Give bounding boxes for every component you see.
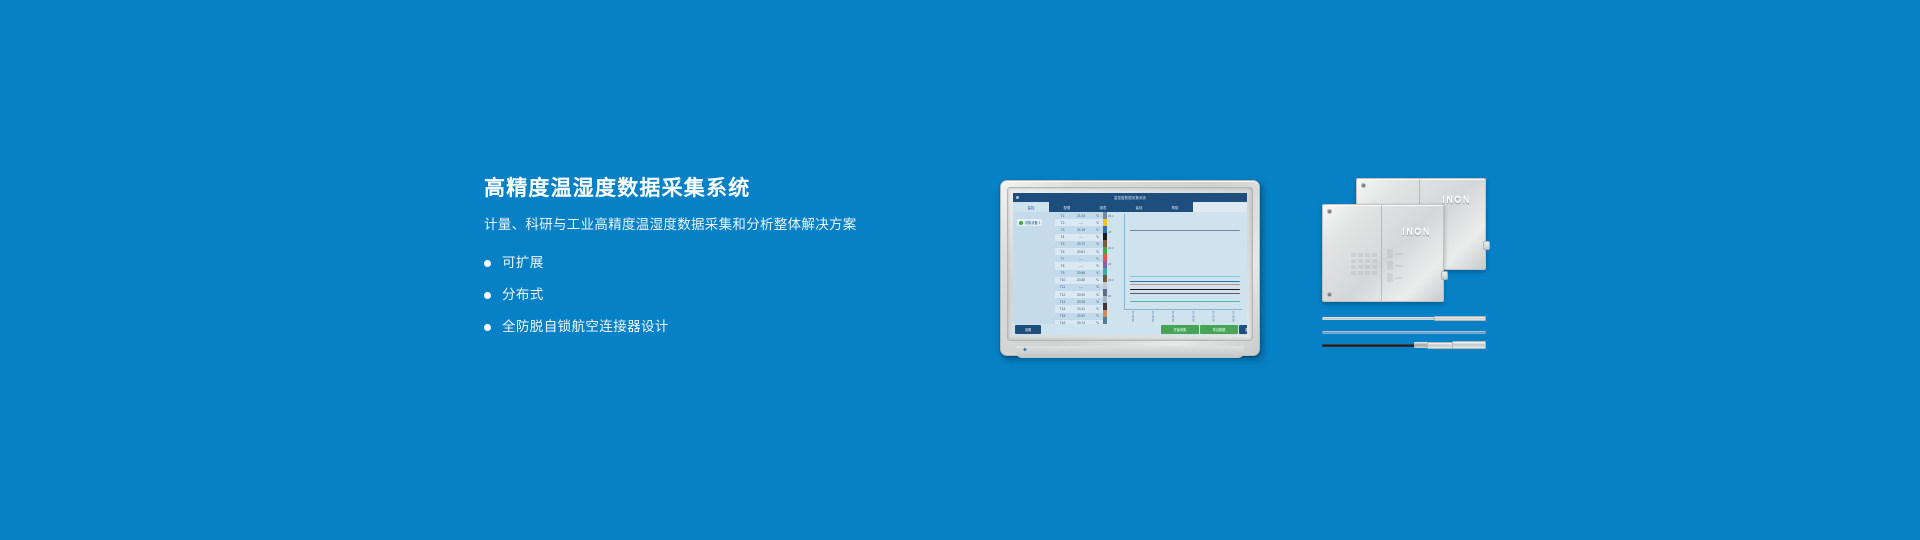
tab-curve[interactable]: 曲线 [1121, 202, 1157, 212]
cell-channel: T12 [1055, 293, 1070, 297]
panel-seam [1381, 205, 1382, 301]
settings-button[interactable]: 设置 [1015, 325, 1041, 334]
chart-series-line [1130, 276, 1240, 277]
sidebar-item-device[interactable]: 采集设备 1 [1017, 219, 1042, 226]
table-row[interactable]: T8----℃ [1055, 262, 1103, 269]
emboss-cell [1358, 271, 1363, 275]
table-row[interactable]: T1020.88℃ [1055, 277, 1103, 284]
cell-unit: ℃ [1092, 300, 1103, 304]
emboss-cell [1358, 265, 1363, 269]
cell-channel: T10 [1055, 278, 1070, 282]
cell-unit: ℃ [1092, 285, 1103, 289]
cell-channel: T7 [1055, 257, 1070, 261]
cell-value: 20.98 [1070, 271, 1092, 275]
app-system-icon [1016, 196, 1019, 199]
cell-channel: T14 [1055, 307, 1070, 311]
vendor-logo-icon: ✦ [1022, 348, 1028, 354]
app-tab-bar: 监控 配置 报表 曲线 帮助 [1013, 202, 1247, 212]
probe-cable [1322, 331, 1486, 334]
legend-swatch [1103, 261, 1107, 268]
cell-channel: T6 [1055, 250, 1070, 254]
legend-swatch [1103, 268, 1107, 275]
chart-plot-area [1124, 214, 1242, 310]
cell-unit: ℃ [1092, 242, 1103, 246]
cell-value: 20.90 [1070, 314, 1092, 318]
bullet-icon [484, 292, 491, 299]
x-tick-label: 10:40:00 [1211, 311, 1215, 322]
bullet-icon [484, 260, 491, 267]
cell-value: ---- [1070, 285, 1092, 289]
legend-swatch [1103, 212, 1107, 219]
app-footer: 设置 开始采集 导出数据 退出 [1013, 324, 1247, 335]
y-tick-label: 23 [1108, 262, 1111, 266]
cell-unit: ℃ [1092, 257, 1103, 261]
device-online-icon [1019, 221, 1023, 225]
cell-value: 24.19 [1070, 228, 1092, 232]
cell-unit: ℃ [1092, 228, 1103, 232]
connector-body [1427, 342, 1453, 349]
emboss-cell [1372, 253, 1377, 257]
table-row[interactable]: T520.72℃ [1055, 241, 1103, 248]
cell-value: ---- [1070, 264, 1092, 268]
table-row[interactable]: T11----℃ [1055, 284, 1103, 291]
legend-swatch [1103, 310, 1107, 317]
embossed-icon-column [1387, 249, 1403, 283]
table-row[interactable]: T7----℃ [1055, 255, 1103, 262]
screw-icon [1327, 209, 1332, 214]
feature-label: 可扩展 [502, 254, 544, 272]
start-capture-button[interactable]: 开始采集 [1161, 325, 1199, 334]
cell-value: ---- [1070, 221, 1092, 225]
emboss-cell [1365, 271, 1370, 275]
panel-pc-monitor: 温湿度数据采集系统 监控 配置 报表 曲线 帮助 采集设备 1 [1000, 180, 1266, 363]
emboss-icon [1387, 249, 1393, 258]
cell-unit: ℃ [1092, 264, 1103, 268]
cell-value: ---- [1070, 235, 1092, 239]
cell-channel: T2 [1055, 221, 1070, 225]
emboss-cell [1372, 271, 1377, 275]
cell-channel: T4 [1055, 235, 1070, 239]
emboss-cell [1365, 265, 1370, 269]
legend-swatch [1103, 275, 1107, 282]
cell-value: ---- [1070, 257, 1092, 261]
tab-help[interactable]: 帮助 [1157, 202, 1193, 212]
x-tick-label: 10:30:00 [1171, 311, 1175, 322]
trend-chart: 25.02424.02323.020 10:20:0010:25:0010:30… [1108, 212, 1246, 324]
acquisition-module-front: INON [1322, 204, 1444, 302]
legend-swatch [1103, 317, 1107, 324]
list-item: 全防脱自锁航空连接器设计 [484, 318, 954, 336]
cell-channel: T9 [1055, 271, 1070, 275]
monitor-chin [1016, 346, 1244, 358]
cell-unit: ℃ [1092, 314, 1103, 318]
x-tick-label: 10:25:00 [1151, 311, 1155, 322]
emboss-rule [1395, 265, 1403, 267]
emboss-cell [1351, 253, 1356, 257]
cell-channel: T8 [1055, 264, 1070, 268]
y-tick-label: 20 [1108, 294, 1111, 298]
table-row[interactable]: T1320.28℃ [1055, 298, 1103, 305]
cell-unit: ℃ [1092, 214, 1103, 218]
cell-unit: ℃ [1092, 221, 1103, 225]
legend-swatch [1103, 254, 1107, 261]
connector-port [1441, 271, 1448, 280]
page-subtitle: 计量、科研与工业高精度温湿度数据采集和分析整体解决方案 [484, 216, 954, 234]
monitor-screen: 温湿度数据采集系统 监控 配置 报表 曲线 帮助 采集设备 1 [1013, 193, 1247, 335]
sidebar-item-label: 采集设备 1 [1025, 220, 1040, 225]
table-row[interactable]: T620.61℃ [1055, 248, 1103, 255]
table-row[interactable]: T920.98℃ [1055, 270, 1103, 277]
chart-x-axis: 10:20:0010:25:0010:30:0010:35:0010:40:00… [1124, 310, 1242, 322]
chart-y-axis: 25.02424.02323.020 [1108, 214, 1122, 310]
emboss-icon [1387, 261, 1393, 270]
table-row[interactable]: T2----℃ [1055, 219, 1103, 226]
legend-swatch [1103, 240, 1107, 247]
embossed-label-grid [1351, 253, 1381, 279]
emboss-cell [1372, 259, 1377, 263]
table-row[interactable]: T1220.90℃ [1055, 291, 1103, 298]
cell-unit: ℃ [1092, 307, 1103, 311]
feature-list: 可扩展 分布式 全防脱自锁航空连接器设计 [484, 254, 954, 336]
legend-swatch [1103, 233, 1107, 240]
feature-label: 分布式 [502, 286, 544, 304]
cell-value: 20.90 [1070, 293, 1092, 297]
x-tick-label: 10:20:00 [1131, 311, 1135, 322]
legend-swatch [1103, 219, 1107, 226]
feature-label: 全防脱自锁航空连接器设计 [502, 318, 669, 336]
tab-config[interactable]: 配置 [1049, 202, 1085, 212]
brand-logo: INON [1402, 227, 1431, 237]
app-titlebar: 温湿度数据采集系统 [1013, 193, 1247, 202]
emboss-cell [1358, 259, 1363, 263]
cell-value: 20.28 [1070, 300, 1092, 304]
product-banner: 高精度温湿度数据采集系统 计量、科研与工业高精度温湿度数据采集和分析整体解决方案… [0, 0, 1920, 540]
chart-series-line [1130, 301, 1240, 302]
export-data-button[interactable]: 导出数据 [1200, 325, 1238, 334]
tab-bar-filler [1193, 202, 1247, 212]
table-row[interactable]: T4----℃ [1055, 234, 1103, 241]
list-item: 分布式 [484, 286, 954, 304]
emboss-cell [1358, 253, 1363, 257]
banner-copy: 高精度温湿度数据采集系统 计量、科研与工业高精度温湿度数据采集和分析整体解决方案… [484, 176, 954, 336]
connector-ferrule [1414, 342, 1428, 348]
emboss-cell [1351, 271, 1356, 275]
y-tick-label: 25.0 [1108, 214, 1114, 218]
tab-report[interactable]: 报表 [1085, 202, 1121, 212]
cell-channel: T11 [1055, 285, 1070, 289]
emboss-cell [1351, 265, 1356, 269]
table-row[interactable]: T1520.90℃ [1055, 313, 1103, 320]
legend-swatch [1103, 247, 1107, 254]
chart-series-line [1130, 293, 1240, 294]
cell-unit: ℃ [1092, 235, 1103, 239]
cell-channel: T13 [1055, 300, 1070, 304]
cell-unit: ℃ [1092, 271, 1103, 275]
y-tick-label: 23.0 [1108, 278, 1114, 282]
cell-unit: ℃ [1092, 278, 1103, 282]
chart-series-line [1130, 289, 1240, 290]
cell-channel: T15 [1055, 314, 1070, 318]
cell-channel: T5 [1055, 242, 1070, 246]
y-tick-label: 24 [1108, 230, 1111, 234]
monitor-bezel-inner: 温湿度数据采集系统 监控 配置 报表 曲线 帮助 采集设备 1 [1007, 187, 1253, 341]
y-tick-label: 24.0 [1108, 246, 1114, 250]
cell-channel: T3 [1055, 228, 1070, 232]
legend-swatch [1103, 226, 1107, 233]
app-body: 采集设备 1 T121.03℃T2----℃T324.19℃T4----℃T52… [1013, 212, 1247, 324]
x-tick-label: 10:45:00 [1231, 311, 1235, 322]
list-item: 可扩展 [484, 254, 954, 272]
tab-monitor[interactable]: 监控 [1013, 202, 1049, 212]
cell-value: 20.72 [1070, 242, 1092, 246]
emboss-cell [1351, 259, 1356, 263]
cell-value: 21.03 [1070, 214, 1092, 218]
cell-unit: ℃ [1092, 293, 1103, 297]
emboss-cell [1365, 259, 1370, 263]
cell-channel: T1 [1055, 214, 1070, 218]
cell-value: 20.11 [1070, 307, 1092, 311]
chart-series-line [1130, 284, 1240, 285]
probe-cable [1322, 317, 1442, 320]
cell-unit: ℃ [1092, 250, 1103, 254]
probe-tip [1434, 316, 1486, 321]
app-sidebar: 采集设备 1 [1013, 212, 1055, 324]
probe-sheath [1452, 341, 1486, 349]
page-title: 高精度温湿度数据采集系统 [484, 176, 954, 202]
chart-series-line [1130, 281, 1240, 282]
screw-icon [1327, 292, 1332, 297]
brand-logo: INON [1442, 195, 1471, 205]
emboss-rule [1395, 277, 1403, 279]
cell-value: 20.88 [1070, 278, 1092, 282]
emboss-cell [1365, 253, 1370, 257]
table-row[interactable]: T1420.11℃ [1055, 305, 1103, 312]
emboss-rule [1395, 253, 1403, 255]
legend-swatch [1103, 282, 1107, 289]
channel-color-legend [1103, 212, 1107, 324]
channel-table[interactable]: T121.03℃T2----℃T324.19℃T4----℃T520.72℃T6… [1055, 212, 1103, 324]
table-row[interactable]: T121.03℃ [1055, 212, 1103, 219]
connector-port [1483, 241, 1490, 250]
probe-cable [1322, 344, 1418, 347]
probe-group [1322, 315, 1486, 355]
emboss-cell [1372, 265, 1377, 269]
chart-series-line [1130, 230, 1240, 231]
legend-swatch [1103, 289, 1107, 296]
x-tick-label: 10:35:00 [1191, 311, 1195, 322]
exit-button[interactable]: 退出 [1239, 325, 1247, 334]
legend-swatch [1103, 303, 1107, 310]
app-window-title: 温湿度数据采集系统 [1114, 195, 1146, 200]
table-row[interactable]: T324.19℃ [1055, 226, 1103, 233]
screw-icon [1361, 183, 1366, 188]
emboss-icon [1387, 273, 1393, 282]
legend-swatch [1103, 296, 1107, 303]
bullet-icon [484, 324, 491, 331]
cell-value: 20.61 [1070, 250, 1092, 254]
